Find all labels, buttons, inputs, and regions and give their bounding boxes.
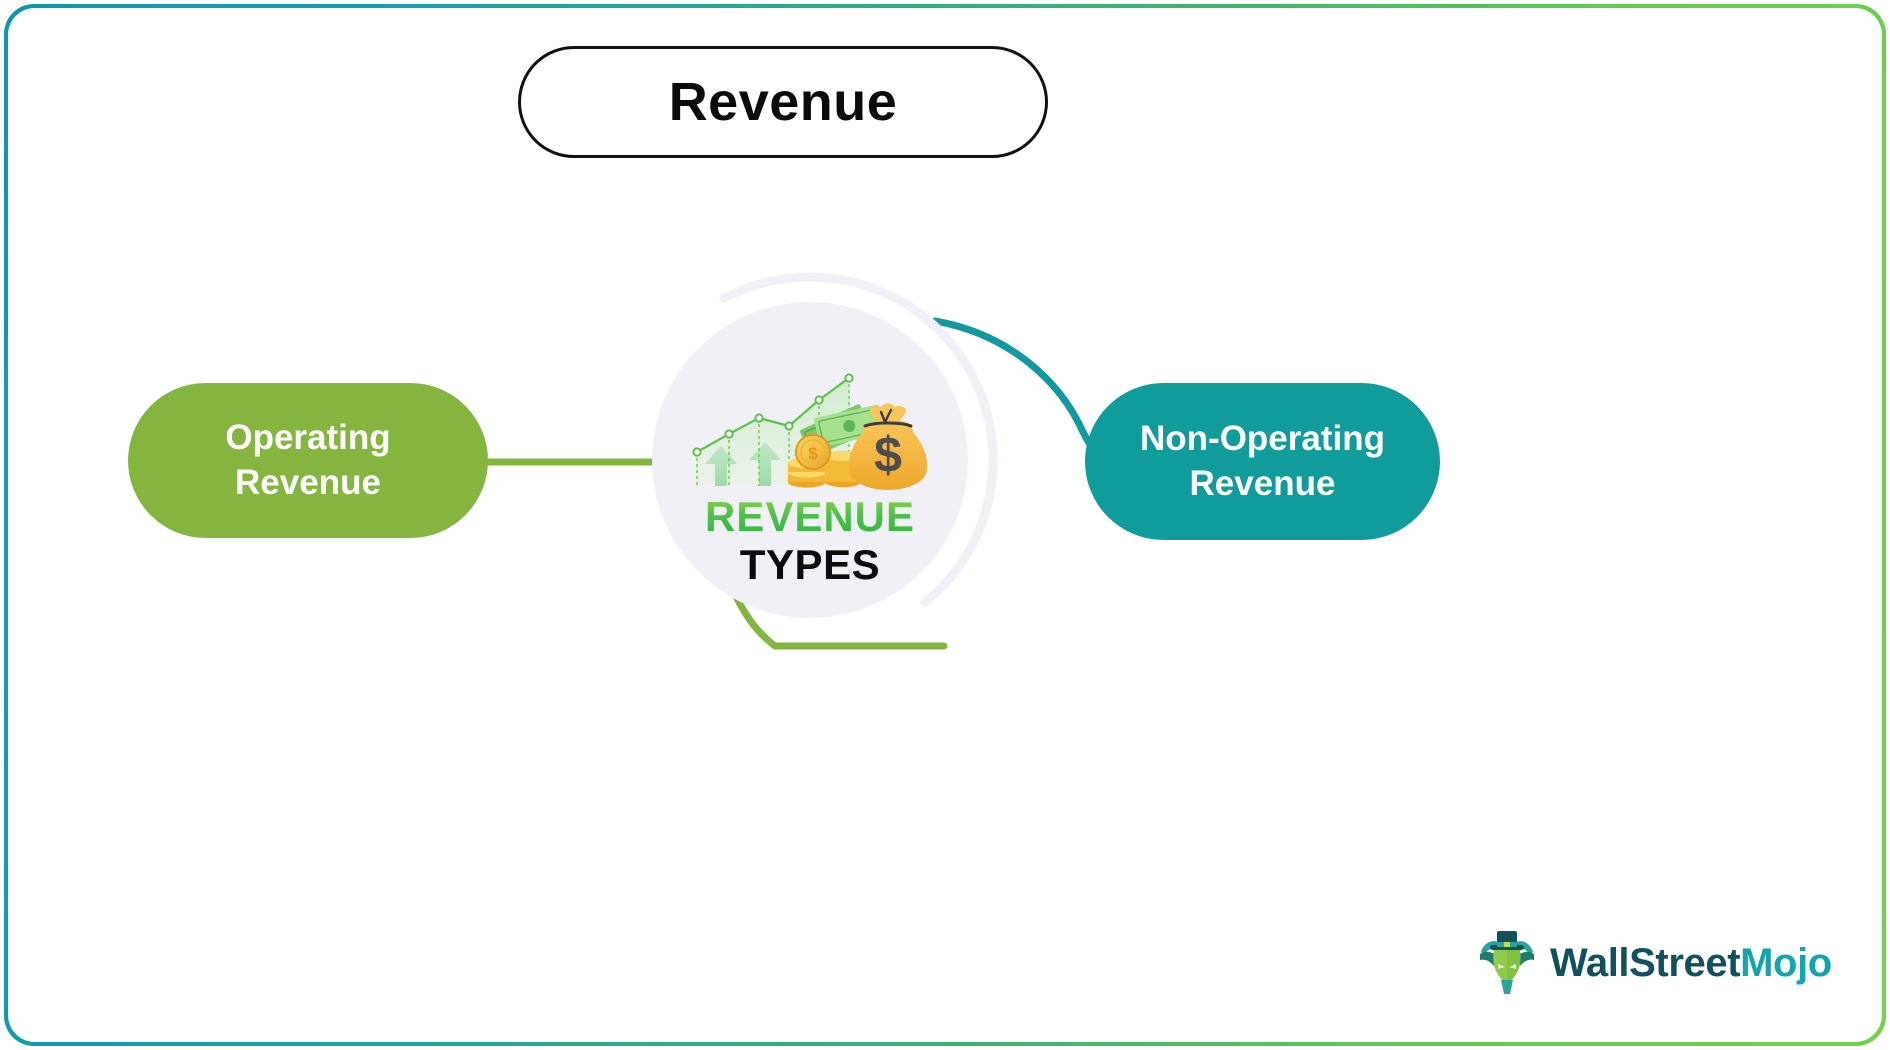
page-title: Revenue	[669, 75, 898, 129]
branch-operating-revenue[interactable]: Operating Revenue	[128, 383, 488, 538]
logo-wordmark: WallStreetMojo	[1550, 943, 1832, 983]
infographic-canvas: Revenue	[0, 0, 1890, 1050]
svg-text:$: $	[808, 444, 818, 463]
center-subheadline: TYPES	[740, 544, 880, 586]
bull-mascot-icon	[1478, 928, 1536, 998]
branch-non-operating-revenue[interactable]: Non-Operating Revenue	[1085, 383, 1440, 540]
logo-text-primary: WallStreet	[1550, 941, 1740, 985]
page-title-pill: Revenue	[518, 46, 1048, 158]
center-graphic: $ $ REVENUE TYPES	[605, 255, 1015, 665]
svg-text:$: $	[874, 427, 902, 483]
logo-text-secondary: Mojo	[1740, 941, 1832, 985]
branch-non-operating-label: Non-Operating Revenue	[1122, 417, 1403, 507]
branch-operating-label: Operating Revenue	[207, 416, 408, 506]
wallstreetmojo-logo[interactable]: WallStreetMojo	[1478, 928, 1832, 998]
revenue-artwork: $ $	[685, 360, 935, 492]
center-content: $ $ REVENUE TYPES	[652, 302, 968, 618]
center-headline: REVENUE	[705, 496, 915, 538]
revenue-illustration-svg: $ $	[685, 360, 935, 492]
